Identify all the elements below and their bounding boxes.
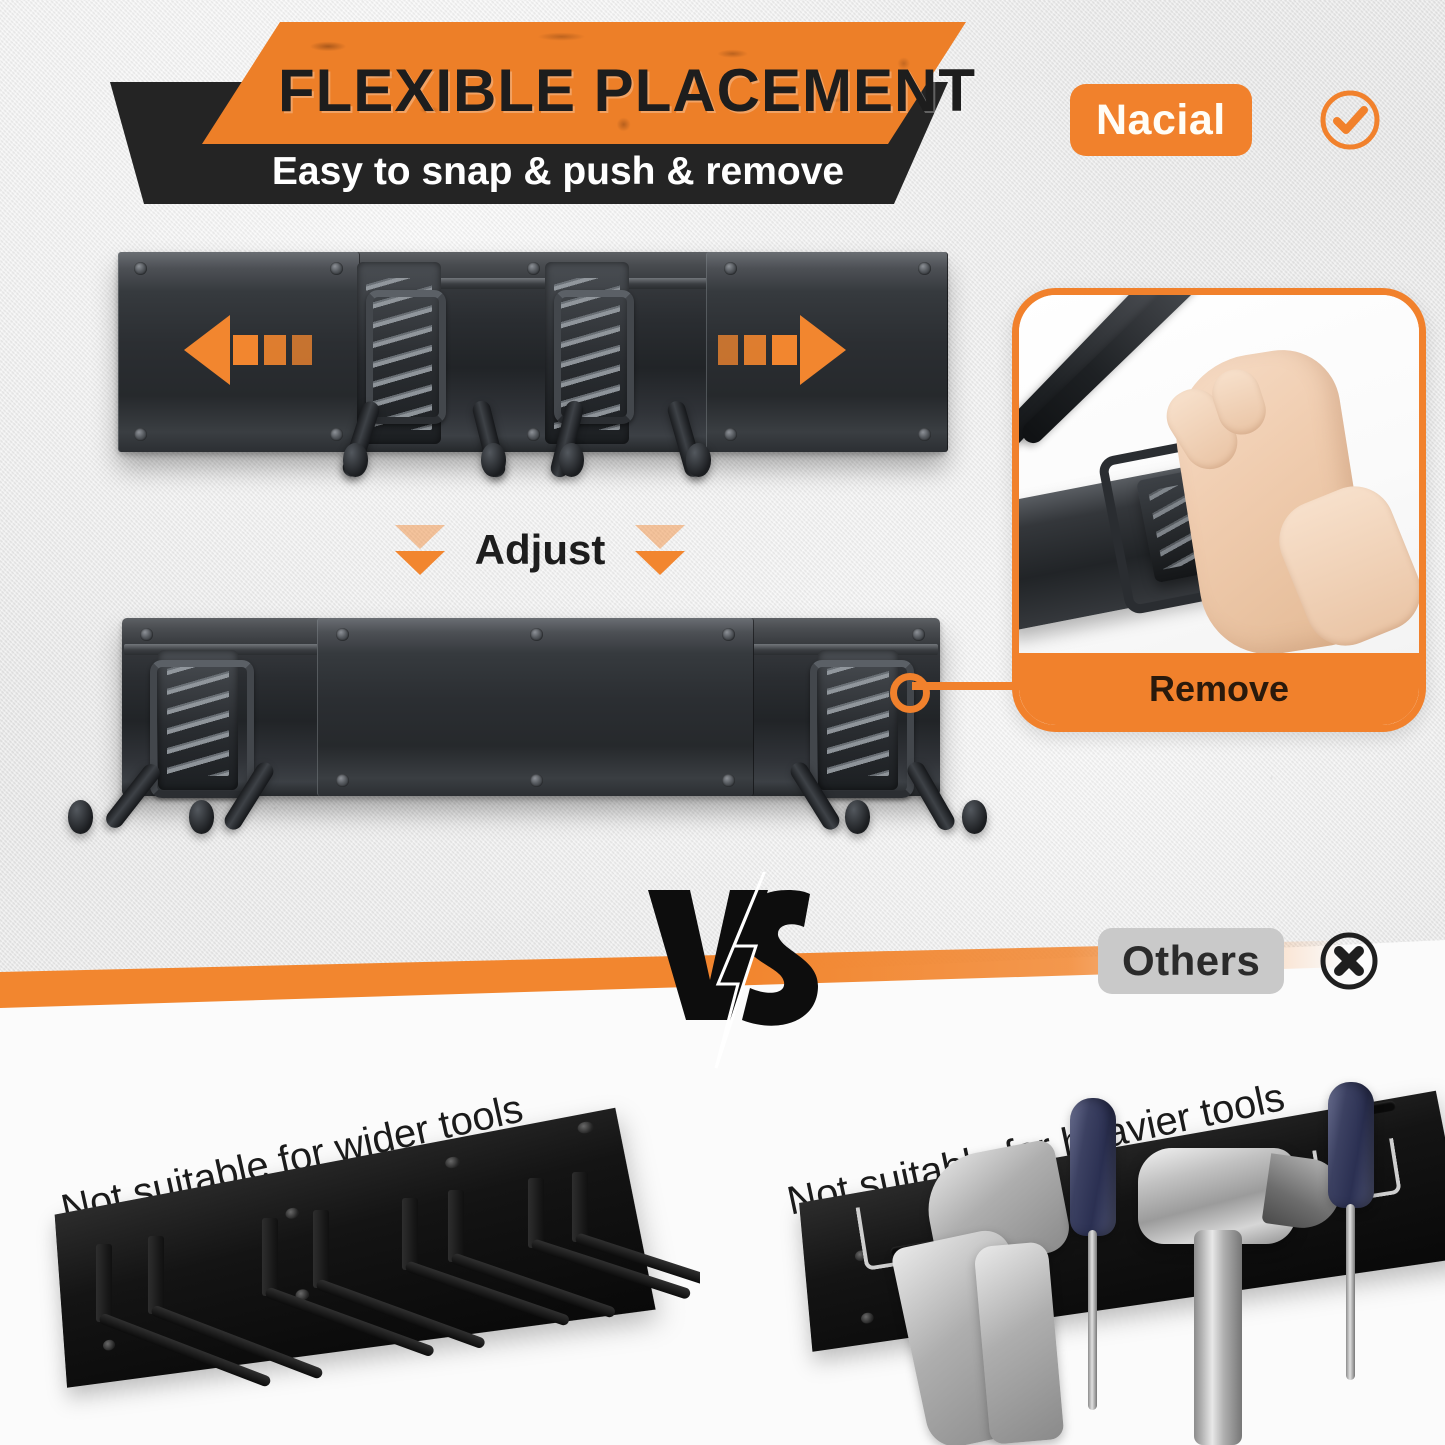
adjust-indicator: Adjust xyxy=(395,505,685,595)
competitor-photo-right: Not suitable for heavier tools xyxy=(760,1040,1445,1445)
vs-badge xyxy=(638,872,848,1072)
rail-screw xyxy=(724,428,737,441)
headline-banner: FLEXIBLE PLACEMENT Easy to snap & push &… xyxy=(88,22,966,204)
rail-screw xyxy=(530,774,543,787)
banner-title: FLEXIBLE PLACEMENT xyxy=(278,56,958,125)
rail-screw xyxy=(912,628,925,641)
arrow-left-icon xyxy=(184,315,312,385)
callout-dot-icon xyxy=(890,673,930,713)
rail-plate-mid xyxy=(317,618,754,796)
remove-label: Remove xyxy=(1149,668,1289,710)
brand-name: Nacial xyxy=(1096,96,1226,145)
rail-screw xyxy=(134,428,147,441)
rail-screw xyxy=(722,774,735,787)
rail-screw xyxy=(722,628,735,641)
rail-screw xyxy=(330,262,343,275)
product-infographic: FLEXIBLE PLACEMENT Easy to snap & push &… xyxy=(0,0,1445,1445)
others-label: Others xyxy=(1122,937,1260,985)
rail-screw xyxy=(134,262,147,275)
adjust-label: Adjust xyxy=(475,526,606,574)
others-badge: Others xyxy=(1098,928,1284,994)
rail-screw xyxy=(527,262,540,275)
product-rail-top xyxy=(118,252,946,452)
rail-screw xyxy=(336,774,349,787)
rail-screw xyxy=(724,262,737,275)
rail-screw xyxy=(330,428,343,441)
brand-badge: Nacial xyxy=(1070,84,1252,156)
rail-screw xyxy=(336,628,349,641)
x-circle-icon xyxy=(1318,930,1380,992)
double-chevron-down-icon-left xyxy=(395,525,445,575)
rail-screw xyxy=(918,428,931,441)
competitor-photo-left: Not suitable for wider tools xyxy=(0,1040,700,1445)
rail-screw xyxy=(527,428,540,441)
double-chevron-down-icon-right xyxy=(635,525,685,575)
arrow-right-icon xyxy=(718,315,846,385)
remove-footer: Remove xyxy=(1019,653,1419,725)
remove-callout-panel: Remove xyxy=(1012,288,1426,732)
banner-subtitle: Easy to snap & push & remove xyxy=(208,150,908,194)
rail-screw xyxy=(140,628,153,641)
remove-photo xyxy=(1019,295,1419,653)
rail-screw xyxy=(918,262,931,275)
check-circle-icon xyxy=(1318,88,1382,152)
rail-screw xyxy=(530,628,543,641)
